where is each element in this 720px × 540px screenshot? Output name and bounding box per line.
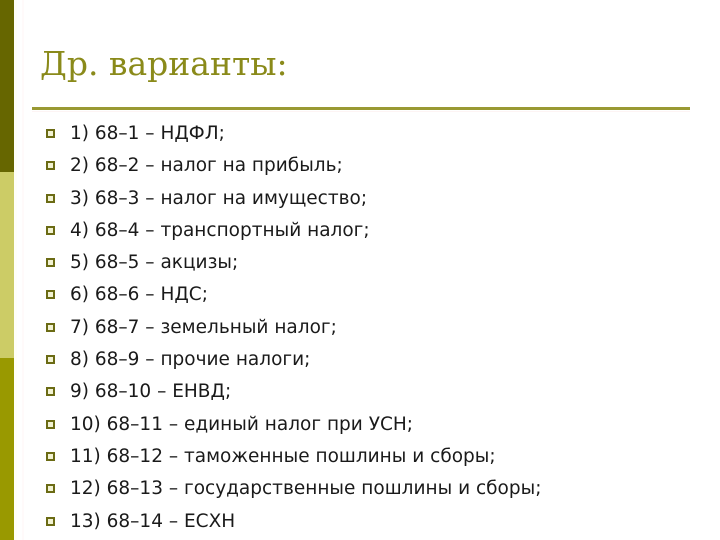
square-bullet-icon (46, 355, 55, 364)
square-bullet-icon (46, 484, 55, 493)
list-item-label: 5) 68–5 – акцизы; (70, 249, 706, 276)
square-bullet-icon (46, 161, 55, 170)
list-item-label: 11) 68–12 – таможенные пошлины и сборы; (70, 443, 706, 470)
square-bullet-icon (46, 323, 55, 332)
slide-title: Др. варианты: (40, 44, 680, 84)
list-item-label: 1) 68–1 – НДФЛ; (70, 120, 706, 147)
list-item-label: 6) 68–6 – НДС; (70, 281, 706, 308)
list-item-label: 7) 68–7 – земельный налог; (70, 314, 706, 341)
list-item-label: 12) 68–13 – государственные пошлины и сб… (70, 475, 706, 502)
edge-bar-segment-top (0, 0, 14, 172)
list-item: 1) 68–1 – НДФЛ; (46, 120, 706, 152)
square-bullet-icon (46, 226, 55, 235)
list-item: 2) 68–2 – налог на прибыль; (46, 152, 706, 184)
square-bullet-icon (46, 194, 55, 203)
list-item: 7) 68–7 – земельный налог; (46, 314, 706, 346)
list-item: 4) 68–4 – транспортный налог; (46, 217, 706, 249)
list-item-label: 9) 68–10 – ЕНВД; (70, 378, 706, 405)
list-item-label: 2) 68–2 – налог на прибыль; (70, 152, 706, 179)
list-item: 9) 68–10 – ЕНВД; (46, 378, 706, 410)
edge-bar-segment-middle (0, 172, 14, 358)
square-bullet-icon (46, 420, 55, 429)
list-item: 13) 68–14 – ЕСХН (46, 508, 706, 540)
square-bullet-icon (46, 517, 55, 526)
title-divider (32, 107, 690, 110)
square-bullet-icon (46, 452, 55, 461)
square-bullet-icon (46, 129, 55, 138)
title-divider-shadow (32, 111, 690, 112)
square-bullet-icon (46, 387, 55, 396)
list-item-label: 4) 68–4 – транспортный налог; (70, 217, 706, 244)
square-bullet-icon (46, 258, 55, 267)
square-bullet-icon (46, 290, 55, 299)
slide-canvas: Др. варианты: 1) 68–1 – НДФЛ;2) 68–2 – н… (0, 0, 720, 540)
list-item: 10) 68–11 – единый налог при УСН; (46, 411, 706, 443)
list-item: 6) 68–6 – НДС; (46, 281, 706, 313)
list-item: 12) 68–13 – государственные пошлины и сб… (46, 475, 706, 507)
list-item-label: 10) 68–11 – единый налог при УСН; (70, 411, 706, 438)
edge-bar-hairline-2 (22, 0, 24, 540)
list-item: 5) 68–5 – акцизы; (46, 249, 706, 281)
list-item: 11) 68–12 – таможенные пошлины и сборы; (46, 443, 706, 475)
list-item-label: 13) 68–14 – ЕСХН (70, 508, 706, 535)
bullet-list: 1) 68–1 – НДФЛ;2) 68–2 – налог на прибыл… (46, 120, 706, 540)
edge-bar-segment-bottom (0, 358, 14, 540)
list-item: 8) 68–9 – прочие налоги; (46, 346, 706, 378)
edge-bar-hairline (14, 0, 17, 540)
list-item-label: 3) 68–3 – налог на имущество; (70, 185, 706, 212)
list-item: 3) 68–3 – налог на имущество; (46, 185, 706, 217)
list-item-label: 8) 68–9 – прочие налоги; (70, 346, 706, 373)
